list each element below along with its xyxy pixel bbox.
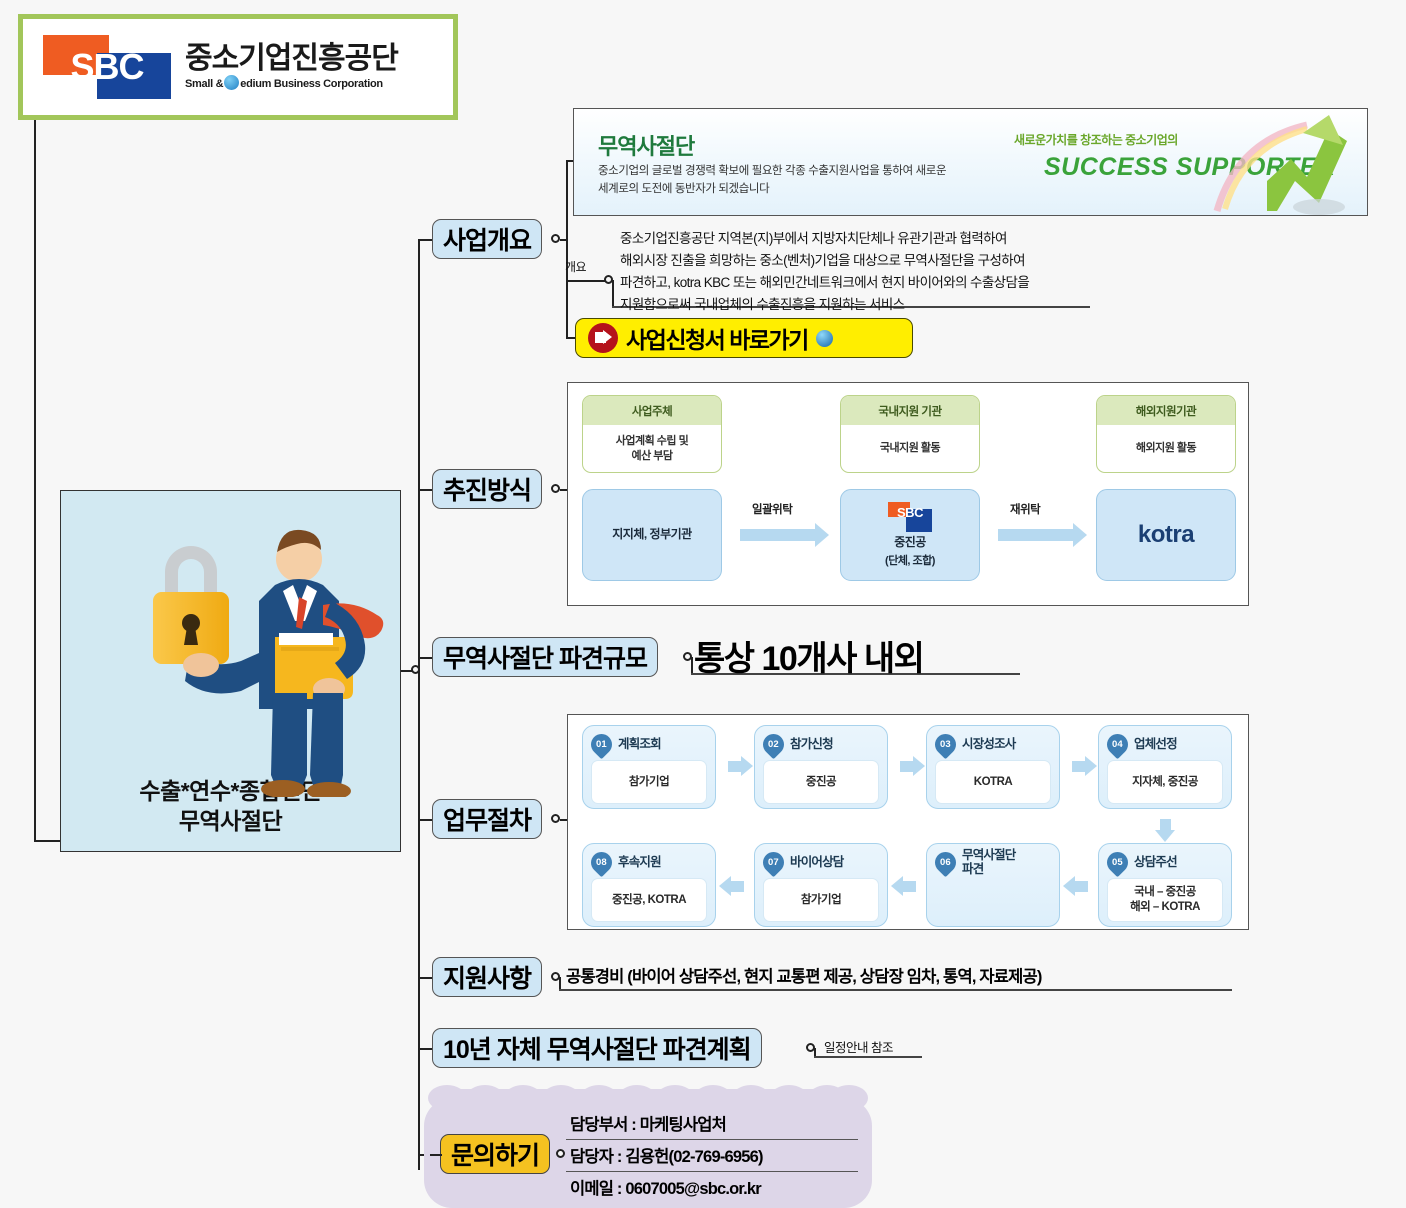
sbc-logo-icon: SBC [43,35,171,99]
contact-info-list: 담당부서 : 마케팅사업처 담당자 : 김용헌(02-769-6956) 이메일… [566,1108,858,1203]
banner-subtitle-line-2: 세계로의 도전에 동반자가 되겠습니다 [598,181,946,199]
step-number-pin-icon: 07 [759,847,789,877]
flow-step-body [935,878,1051,922]
stub-branch-4 [418,819,432,821]
growth-arrow-icon [1207,111,1357,215]
businessman-illustration [61,497,402,797]
banner-title: 무역사절단 [598,129,694,161]
flow-step-title: 업체선정 [1134,737,1177,751]
step-number-pin-icon: 05 [1103,847,1133,877]
work-procedure-flowchart: 01 계획조회 참가기업 02 참가신청 중진공 03 시장성조사 KOTRA … [567,714,1249,930]
flow-step-card: 03 시장성조사 KOTRA [926,725,1060,809]
right-arrow-icon [588,323,618,353]
sbc-logo-text: SBC [43,35,171,99]
flow-step-card: 05 상담주선 국내 – 중진공해외 – KOTRA [1098,843,1232,927]
flow-step-card: 08 후속지원 중진공, KOTRA [582,843,716,927]
flow-step-title: 참가신청 [790,737,833,751]
promo-header-card: 사업주체 사업계획 수립 및예산 부담 [582,395,722,473]
flow-arrow-left-icon [730,881,744,892]
root-logo-name-en: Small &edium Business Corporation [185,75,398,91]
stub-branch-2 [418,489,432,491]
contact-department: 담당부서 : 마케팅사업처 [566,1108,858,1140]
overview-paragraph: 중소기업진흥공단 지역본(지)부에서 지방자치단체나 유관기관과 협력하여 해외… [620,228,1090,315]
promo-header-card: 해외지원기관 해외지원 활동 [1096,395,1236,473]
root-logo-node: SBC 중소기업진흥공단 Small &edium Business Corpo… [18,14,458,120]
flow-arrow-right-icon [728,761,742,772]
promotion-method-diagram: 사업주체 사업계획 수립 및예산 부담 국내지원 기관 국내지원 활동 해외지원… [567,382,1249,606]
globe-icon [816,330,833,347]
contact-email: 이메일 : 0607005@sbc.or.kr [566,1172,858,1203]
branch-4-bullet [551,814,560,823]
branch-1-bullet [551,234,560,243]
flow-arrow-right-icon [1072,761,1086,772]
flow-step-card: 04 업체선정 지자체, 중진공 [1098,725,1232,809]
flow-step-title: 상담주선 [1134,855,1177,869]
connector-to-overview [566,280,608,282]
program-banner: 무역사절단 중소기업의 글로벌 경쟁력 확보에 필요한 각종 수출지원사업을 통… [573,108,1368,216]
flow-step-card: 06 무역사절단파견 [926,843,1060,927]
promo-actor-card: 지지체, 정부기관 [582,489,722,581]
promo-actor-name: 중진공 [894,535,926,551]
flow-step-title: 바이어상담 [790,855,844,869]
branch-1-stub [560,239,568,241]
flow-step-title: 후속지원 [618,855,661,869]
overview-line-2: 해외시장 진출을 희망하는 중소(벤처)기업을 대상으로 무역사절단을 구성하여 [620,250,1090,272]
step-number-pin-icon: 08 [587,847,617,877]
flow-arrow-left-icon [1074,881,1088,892]
stub-branch-5 [418,977,432,979]
overview-line-3: 파견하고, kotra KBC 또는 해외민간네트워크에서 현지 바이어와의 수… [620,272,1090,294]
dispatch-scale-value: 통상 10개사 내외 [694,631,923,680]
flow-arrow-left-icon [902,881,916,892]
connector-root-down [34,120,36,842]
branch-label-dispatch-scale[interactable]: 무역사절단 파견규모 [432,637,658,677]
apply-form-link-button[interactable]: 사업신청서 바로가기 [575,318,913,358]
branch-label-business-overview[interactable]: 사업개요 [432,219,542,259]
promo-arrow [998,529,1074,541]
branch-label-promotion-method[interactable]: 추진방식 [432,469,542,509]
banner-subtitle-line-1: 중소기업의 글로벌 경쟁력 확보에 필요한 각종 수출지원사업을 통하여 새로운 [598,163,946,181]
banner-subtitle: 중소기업의 글로벌 경쟁력 확보에 필요한 각종 수출지원사업을 통하여 새로운… [598,163,946,199]
promo-arrow-label: 일괄위탁 [752,501,792,517]
root-logo-name-kr: 중소기업진흥공단 [185,43,398,75]
branch-2-bullet [551,484,560,493]
promo-header-body: 국내지원 활동 [841,425,979,472]
promo-header-card: 국내지원 기관 국내지원 활동 [840,395,980,473]
banner-tagline-small: 새로운가치를 창조하는 중소기업의 [1014,131,1178,148]
plan-underline [814,1056,922,1058]
overview-side-label: 개요 [565,258,586,275]
support-items-text: 공통경비 (바이어 상담주선, 현지 교통편 제공, 상담장 임차, 통역, 자… [566,963,1042,987]
branch-label-work-procedure[interactable]: 업무절차 [432,799,542,839]
step-number-pin-icon: 02 [759,729,789,759]
sbc-logo-icon: SBC [888,502,932,532]
promo-actor-card: SBC 중진공 (단체, 조합) [840,489,980,581]
promo-actor-sub: (단체, 조합) [885,554,935,568]
promo-header-body: 해외지원 활동 [1097,425,1235,472]
flow-step-body: 중진공 [763,760,879,804]
contact-person: 담당자 : 김용헌(02-769-6956) [566,1140,858,1172]
flow-step-card: 01 계획조회 참가기업 [582,725,716,809]
center-topic-node: 수출*연수*종합진단 무역사절단 [60,490,401,852]
connector-spine [418,240,420,1170]
promo-header-title: 국내지원 기관 [841,396,979,425]
flow-step-title: 계획조회 [618,737,661,751]
promo-arrow [740,529,816,541]
promo-actor-name: 지지체, 정부기관 [612,527,691,543]
stub-branch-1 [418,239,432,241]
promo-header-body: 사업계획 수립 및예산 부담 [583,425,721,472]
branch-label-contact[interactable]: 문의하기 [440,1134,550,1174]
flow-step-body: 국내 – 중진공해외 – KOTRA [1107,878,1223,922]
stub-branch-3 [418,657,432,659]
promo-header-title: 사업주체 [583,396,721,425]
flow-step-body: 참가기업 [591,760,707,804]
promo-header-title: 해외지원기관 [1097,396,1235,425]
apply-button-label: 사업신청서 바로가기 [626,321,808,355]
branch-1-subspine [566,161,568,338]
overview-line-4: 지원함으로써 국내업체의 수출진흥을 지원하는 서비스 [620,294,1090,316]
contact-stub [430,1154,442,1156]
flow-arrow-down-icon [1160,819,1171,831]
promo-arrow-label: 재위탁 [1010,501,1040,517]
kotra-logo-icon: kotra [1138,519,1194,550]
flow-step-card: 07 바이어상담 참가기업 [754,843,888,927]
support-underline [559,989,1232,991]
stub-branch-6 [418,1048,432,1050]
step-number-pin-icon: 03 [931,729,961,759]
globe-icon [224,75,239,90]
flow-step-card: 02 참가신청 중진공 [754,725,888,809]
center-title-line-2: 무역사절단 [139,807,321,837]
branch-label-support-items[interactable]: 지원사항 [432,957,542,997]
flow-step-body: 지자체, 중진공 [1107,760,1223,804]
flow-step-title: 시장성조사 [962,737,1016,751]
overview-text-bracket [612,280,614,308]
flow-step-title: 무역사절단파견 [962,848,1016,877]
overview-line-1: 중소기업진흥공단 지역본(지)부에서 지방자치단체나 유관기관과 협력하여 [620,228,1090,250]
flow-step-body: 참가기업 [763,878,879,922]
step-number-pin-icon: 01 [587,729,617,759]
flow-step-body: 중진공, KOTRA [591,878,707,922]
connector-root-to-center [34,840,62,842]
root-logo-wordmark: 중소기업진흥공단 Small &edium Business Corporati… [185,43,398,90]
promo-actor-card: kotra [1096,489,1236,581]
branch-7-bullet [556,1149,565,1158]
step-number-pin-icon: 06 [931,847,961,877]
flow-arrow-right-icon [900,761,914,772]
step-number-pin-icon: 04 [1103,729,1133,759]
branch-label-dispatch-plan[interactable]: 10년 자체 무역사절단 파견계획 [432,1028,762,1068]
flow-step-body: KOTRA [935,760,1051,804]
dispatch-plan-note: 일정안내 참조 [824,1037,893,1056]
